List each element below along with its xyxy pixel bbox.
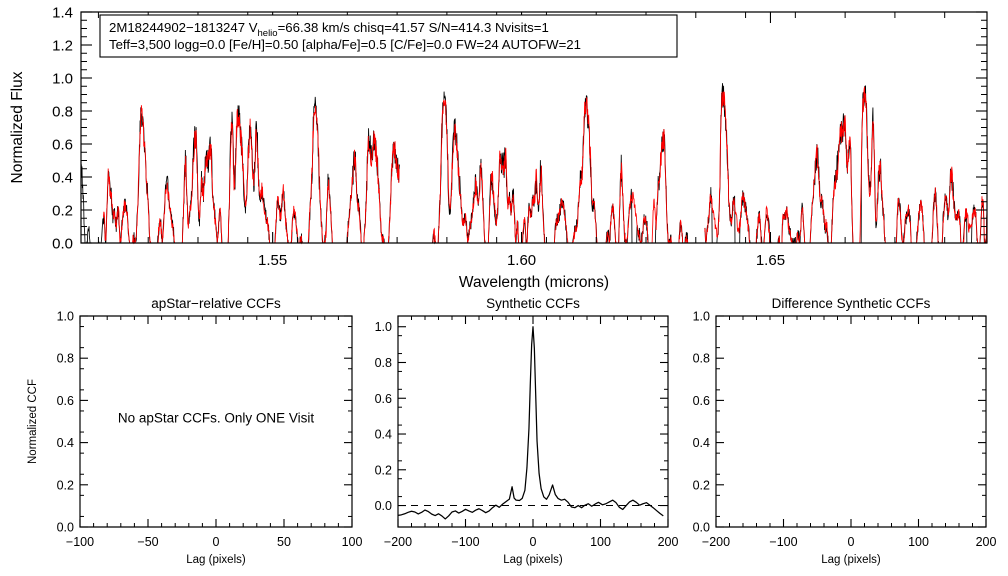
ccf-x-axis-label: Lag (pixels) (503, 554, 563, 566)
ccf-y-tick-label: 0.8 (57, 352, 74, 366)
spectrum-x-axis-label: Wavelength (microns) (459, 274, 609, 291)
ccf-x-tick-label: −100 (66, 535, 94, 549)
ccf-y-tick-label: 0.2 (57, 478, 74, 492)
spectrum-svg: 0.00.20.40.60.81.01.21.4Normalized Flux1… (0, 0, 1008, 292)
ccf-panel-2: Synthetic CCFs0.00.20.40.60.81.0−200−100… (375, 296, 679, 566)
ccf-panel-title: Synthetic CCFs (486, 296, 580, 311)
x-tick-label: 1.55 (258, 252, 287, 269)
y-tick-label: 0.6 (52, 137, 73, 154)
ccf-y-tick-label: 1.0 (375, 320, 392, 334)
ccf-x-tick-label: 0 (213, 535, 220, 549)
spectrum-annotation-box: 2M18244902−1813247 Vhelio=66.38 km/s chi… (100, 15, 677, 57)
ccf-panel-3: Difference Synthetic CCFs0.00.20.40.60.8… (693, 296, 997, 566)
ccf-y-tick-label: 0.6 (57, 394, 74, 408)
ccf-x-tick-label: −200 (384, 535, 412, 549)
ccf-x-tick-label: 100 (590, 535, 611, 549)
ccf-y-tick-label: 0.0 (57, 521, 74, 535)
y-tick-label: 0.2 (52, 203, 73, 220)
ccf-x-tick-label: 100 (908, 535, 929, 549)
y-tick-label: 1.4 (52, 5, 73, 22)
ccf-panel-1: apStar−relative CCFsNo apStar CCFs. Only… (27, 296, 362, 566)
ccf-x-tick-label: 100 (342, 535, 363, 549)
y-tick-label: 0.8 (52, 104, 73, 121)
synthetic-spectrum-line (103, 87, 987, 243)
ccf-panels-row: apStar−relative CCFsNo apStar CCFs. Only… (0, 292, 1008, 576)
ccf-y-tick-label: 0.8 (375, 356, 392, 370)
ccf-empty-message: No apStar CCFs. Only ONE Visit (118, 410, 315, 425)
ccf-x-tick-label: 0 (530, 535, 537, 549)
x-tick-label: 1.65 (756, 252, 785, 269)
ccf-y-tick-label: 0.4 (57, 436, 74, 450)
ccf-x-tick-label: 200 (976, 535, 997, 549)
ccf-x-axis-label: Lag (pixels) (821, 554, 881, 566)
y-tick-label: 0.0 (52, 236, 73, 253)
y-tick-label: 0.4 (52, 170, 73, 187)
x-tick-label: 1.60 (507, 252, 536, 269)
ccf-y-tick-label: 0.4 (375, 428, 392, 442)
ccf-x-tick-label: 200 (658, 535, 679, 549)
ccf-x-axis-label: Lag (pixels) (186, 554, 246, 566)
ccf-y-axis-label: Normalized CCF (27, 379, 39, 464)
y-tick-label: 1.0 (52, 71, 73, 88)
ccf-panel-title: apStar−relative CCFs (151, 296, 281, 311)
ccf-x-tick-label: 50 (277, 535, 291, 549)
ccf-y-tick-label: 1.0 (57, 310, 74, 324)
ccf-y-tick-label: 0.6 (375, 392, 392, 406)
spectrum-panel: 0.00.20.40.60.81.01.21.4Normalized Flux1… (0, 0, 1008, 292)
ccf-y-tick-label: 0.2 (693, 478, 710, 492)
ccf-y-tick-label: 0.6 (693, 394, 710, 408)
ccf-svg: apStar−relative CCFsNo apStar CCFs. Only… (0, 292, 1008, 576)
ccf-axis-frame (398, 316, 668, 527)
spectrum-plot-area (81, 83, 987, 243)
ccf-x-tick-label: −50 (137, 535, 158, 549)
ccf-x-tick-label: −100 (769, 535, 797, 549)
ccf-y-tick-label: 0.4 (693, 436, 710, 450)
ccf-x-tick-label: 0 (848, 535, 855, 549)
ccf-y-tick-label: 0.2 (375, 463, 392, 477)
ccf-y-tick-label: 0.0 (693, 521, 710, 535)
ccf-x-tick-label: −200 (702, 535, 730, 549)
annotation-line-2: Teff=3,500 logg=0.0 [Fe/H]=0.50 [alpha/F… (109, 37, 581, 52)
synthetic-ccf-curve (398, 327, 663, 519)
y-tick-label: 1.2 (52, 38, 73, 55)
spectrum-y-axis-label: Normalized Flux (9, 71, 26, 183)
ccf-axis-frame (716, 316, 986, 527)
ccf-y-tick-label: 0.8 (693, 352, 710, 366)
ccf-y-tick-label: 0.0 (375, 499, 392, 513)
ccf-y-tick-label: 1.0 (693, 310, 710, 324)
ccf-panel-title: Difference Synthetic CCFs (772, 296, 931, 311)
ccf-x-tick-label: −100 (451, 535, 479, 549)
